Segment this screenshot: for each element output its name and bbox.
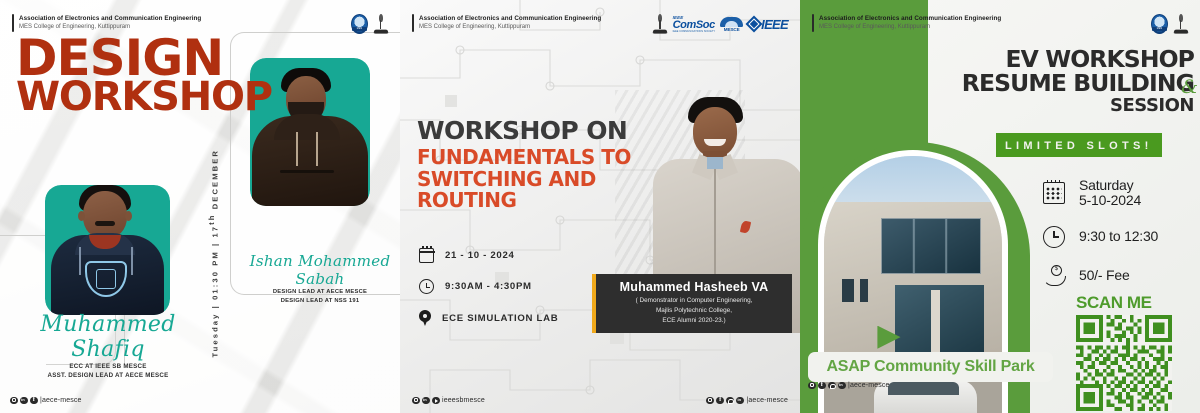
speaker-sub-2: Majlis Polytechnic College, [602, 306, 786, 316]
status-badge: LIMITED SLOTS! [996, 133, 1162, 157]
mesce-college-logo-icon: MES [1151, 14, 1168, 34]
speaker-a-credit: Muhammed Shafiq ECC AT IEEE SB MESCE ASS… [18, 312, 198, 381]
facebook-icon[interactable] [30, 397, 38, 405]
organization-block: Association of Electronics and Communica… [412, 14, 601, 32]
organization-block: Association of Electronics and Communica… [812, 14, 1001, 32]
event-time-row: 9:30AM - 4:30PM [419, 279, 558, 294]
instagram-icon[interactable] [10, 397, 18, 405]
poster-design-workshop: Association of Electronics and Communica… [0, 0, 400, 413]
calendar-icon [1043, 182, 1065, 204]
torch-logo-icon [373, 14, 388, 34]
facebook-icon[interactable] [818, 382, 826, 390]
venue-name: ASAP Community Skill Park [826, 358, 1034, 375]
hand-money-icon: $ [1043, 265, 1065, 287]
event-datetime-vertical: Tuesday | 01:30 PM | 17th DECEMBER [204, 146, 222, 361]
page-title: DESIGN WORKSHOP [16, 38, 272, 115]
speaker-sub-3: ECE Alumni 2020-23.) [602, 316, 786, 326]
limited-slots-text: LIMITED SLOTS! [1005, 140, 1153, 152]
title-line-1: DESIGN [16, 38, 272, 79]
speaker-sub-1: ( Demonstrator in Computer Engineering, [602, 296, 786, 306]
title-line-2b: SWITCHING AND [417, 169, 631, 191]
ampersand-accent: & [1181, 76, 1198, 98]
speaker-b-credit: Ishan Mohammed Sabah DESIGN LEAD AT AECE… [240, 252, 400, 306]
linkedin-icon[interactable] [736, 397, 744, 405]
instagram-icon[interactable] [412, 397, 420, 405]
poster-header: Association of Electronics and Communica… [800, 0, 1200, 34]
clock-icon [1043, 226, 1065, 248]
social-handle-footer-right[interactable]: |aece-mesce [706, 397, 788, 405]
youtube-icon[interactable] [432, 397, 440, 405]
page-title: EV WORKSHOP RESUME BUILDING SESSION & [950, 48, 1194, 116]
header-rule [12, 14, 14, 32]
clock-icon [419, 279, 434, 294]
speaker-name: Muhammed Hasheeb VA [602, 280, 786, 294]
instagram-icon[interactable] [706, 397, 714, 405]
event-details-list: Saturday5-10-2024 9:30 to 12:30 $ 50/- F… [1043, 178, 1158, 287]
header-logos: MES [1151, 14, 1188, 34]
social-handle-footer[interactable]: |aece-mesce [10, 397, 82, 405]
event-date-row: 21 - 10 - 2024 [419, 248, 558, 263]
event-date: 21 - 10 - 2024 [445, 250, 515, 261]
organization-block: Association of Electronics and Communica… [12, 14, 201, 32]
org-line-2: MES College of Engineering, Kuttippuram [19, 23, 201, 32]
event-day: Saturday [1079, 177, 1133, 193]
speaker-a-photo [45, 185, 170, 315]
social-handle-footer[interactable]: |aece-mesce [808, 382, 890, 390]
linkedin-icon[interactable] [838, 382, 846, 390]
title-line-3: SESSION [950, 96, 1194, 116]
speaker-a-name: Muhammed Shafiq [18, 312, 198, 362]
facebook-icon[interactable] [716, 397, 724, 405]
linkedin-icon[interactable] [20, 397, 28, 405]
speaker-b-role-1: DESIGN LEAD AT AECE MESCE [240, 288, 400, 297]
qr-code-block[interactable]: SCAN ME [1076, 293, 1172, 413]
org-line-1: Association of Electronics and Communica… [419, 14, 601, 23]
speaker-b-role-2: DESIGN LEAD AT NSS 191 [240, 297, 400, 306]
poster-switching-routing-workshop: Association of Electronics and Communica… [400, 0, 800, 413]
title-line-2c: ROUTING [417, 190, 631, 212]
poster-header: Association of Electronics and Communica… [400, 0, 800, 34]
whatsapp-icon[interactable] [828, 382, 836, 390]
header-rule [812, 14, 814, 32]
title-line-2: WORKSHOP [16, 79, 272, 115]
speaker-a-role-1: ECC AT IEEE SB MESCE [18, 362, 198, 371]
header-logos: MES [351, 14, 388, 34]
instagram-icon[interactable] [808, 382, 816, 390]
handle-text: |aece-mesce [848, 382, 890, 389]
mesce-college-logo-icon: MES [351, 14, 368, 34]
linkedin-icon[interactable] [422, 397, 430, 405]
page-title: WORKSHOP ON FUNDAMENTALS TO SWITCHING AN… [417, 118, 631, 212]
torch-logo-icon [653, 14, 668, 34]
event-fee: 50/- Fee [1079, 268, 1130, 283]
venue-label: ASAP Community Skill Park [808, 352, 1053, 382]
social-handle-footer-left[interactable]: ieeesbmesce [412, 397, 485, 405]
event-time: 9:30 to 12:30 [1079, 229, 1158, 244]
poster-ev-workshop-resume-building: Association of Electronics and Communica… [800, 0, 1200, 413]
event-time: 9:30AM - 4:30PM [445, 281, 532, 292]
event-date-row: Saturday5-10-2024 [1043, 178, 1158, 209]
header-rule [412, 14, 414, 32]
event-fee-row: $ 50/- Fee [1043, 265, 1158, 287]
org-line-1: Association of Electronics and Communica… [19, 14, 201, 23]
title-line-1: WORKSHOP ON [417, 118, 631, 143]
whatsapp-icon[interactable] [726, 397, 734, 405]
speaker-b-name: Ishan Mohammed Sabah [240, 252, 400, 288]
org-line-2: MES College of Engineering, Kuttippuram [819, 23, 1001, 32]
speaker-nameplate: Muhammed Hasheeb VA ( Demonstrator in Co… [592, 274, 792, 333]
handle-text: ieeesbmesce [442, 397, 485, 404]
title-line-2: RESUME BUILDING [950, 72, 1194, 96]
event-venue: ECE SIMULATION LAB [442, 313, 558, 324]
event-venue-row: ECE SIMULATION LAB [419, 310, 558, 326]
event-details-list: 21 - 10 - 2024 9:30AM - 4:30PM ECE SIMUL… [419, 248, 558, 326]
handle-text: |aece-mesce [746, 397, 788, 404]
calendar-icon [419, 248, 434, 263]
title-line-2a: FUNDAMENTALS TO [417, 147, 631, 169]
torch-logo-icon [1173, 14, 1188, 34]
mesce-sb-logo-icon: MESCE [720, 17, 743, 32]
scan-me-label: SCAN ME [1076, 293, 1172, 313]
location-pin-icon [419, 310, 431, 326]
org-line-2: MES College of Engineering, Kuttippuram [419, 23, 601, 32]
ieee-logo-icon: IEEE [748, 17, 788, 32]
event-time-row: 9:30 to 12:30 [1043, 226, 1158, 248]
ieee-comsoc-logo-icon: IEEE ComSoc IEEE COMMUNICATIONS SOCIETY [673, 15, 716, 33]
speaker-a-role-2: ASST. DESIGN LEAD AT AECE MESCE [18, 371, 198, 380]
poster-header: Association of Electronics and Communica… [0, 0, 400, 34]
poster-strip: Association of Electronics and Communica… [0, 0, 1200, 413]
handle-text: |aece-mesce [40, 397, 82, 404]
header-logos: IEEE ComSoc IEEE COMMUNICATIONS SOCIETY … [653, 14, 788, 34]
qr-code[interactable] [1076, 315, 1172, 411]
org-line-1: Association of Electronics and Communica… [819, 14, 1001, 23]
event-date: 5-10-2024 [1079, 193, 1141, 208]
